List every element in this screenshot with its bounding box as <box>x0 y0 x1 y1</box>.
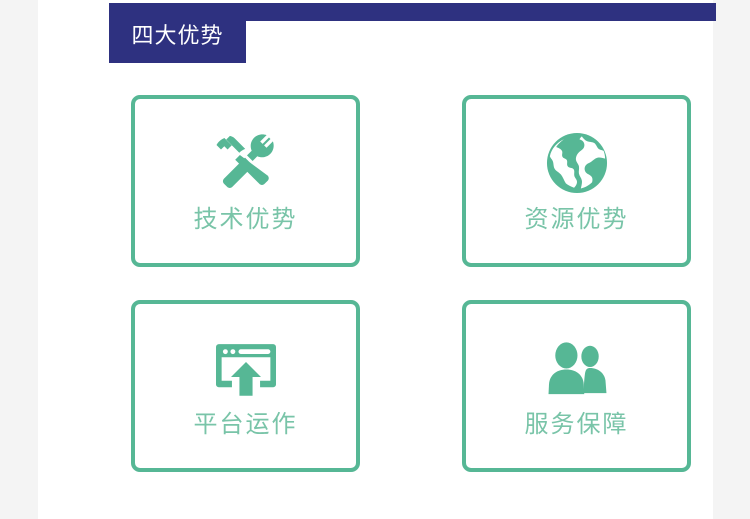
two-people-icon <box>542 336 612 400</box>
advantage-card-label: 平台运作 <box>194 412 298 436</box>
content-sheet: 四大优势 技术优势 <box>38 0 713 519</box>
section-title-label: 四大优势 <box>131 26 223 48</box>
advantage-card-label: 服务保障 <box>525 412 629 436</box>
advantage-card-technology[interactable]: 技术优势 <box>131 95 360 267</box>
globe-icon <box>542 131 612 195</box>
advantage-card-label: 技术优势 <box>194 207 298 231</box>
section-title-tab: 四大优势 <box>109 10 246 63</box>
advantage-card-platform[interactable]: 平台运作 <box>131 300 360 472</box>
hammer-wrench-icon <box>211 131 281 195</box>
advantage-card-grid: 技术优势 资源优势 <box>131 95 691 472</box>
advantage-card-service[interactable]: 服务保障 <box>462 300 691 472</box>
browser-upload-icon <box>211 336 281 400</box>
advantages-section-page: 四大优势 技术优势 <box>0 0 750 519</box>
advantage-card-resources[interactable]: 资源优势 <box>462 95 691 267</box>
advantage-card-label: 资源优势 <box>525 207 629 231</box>
